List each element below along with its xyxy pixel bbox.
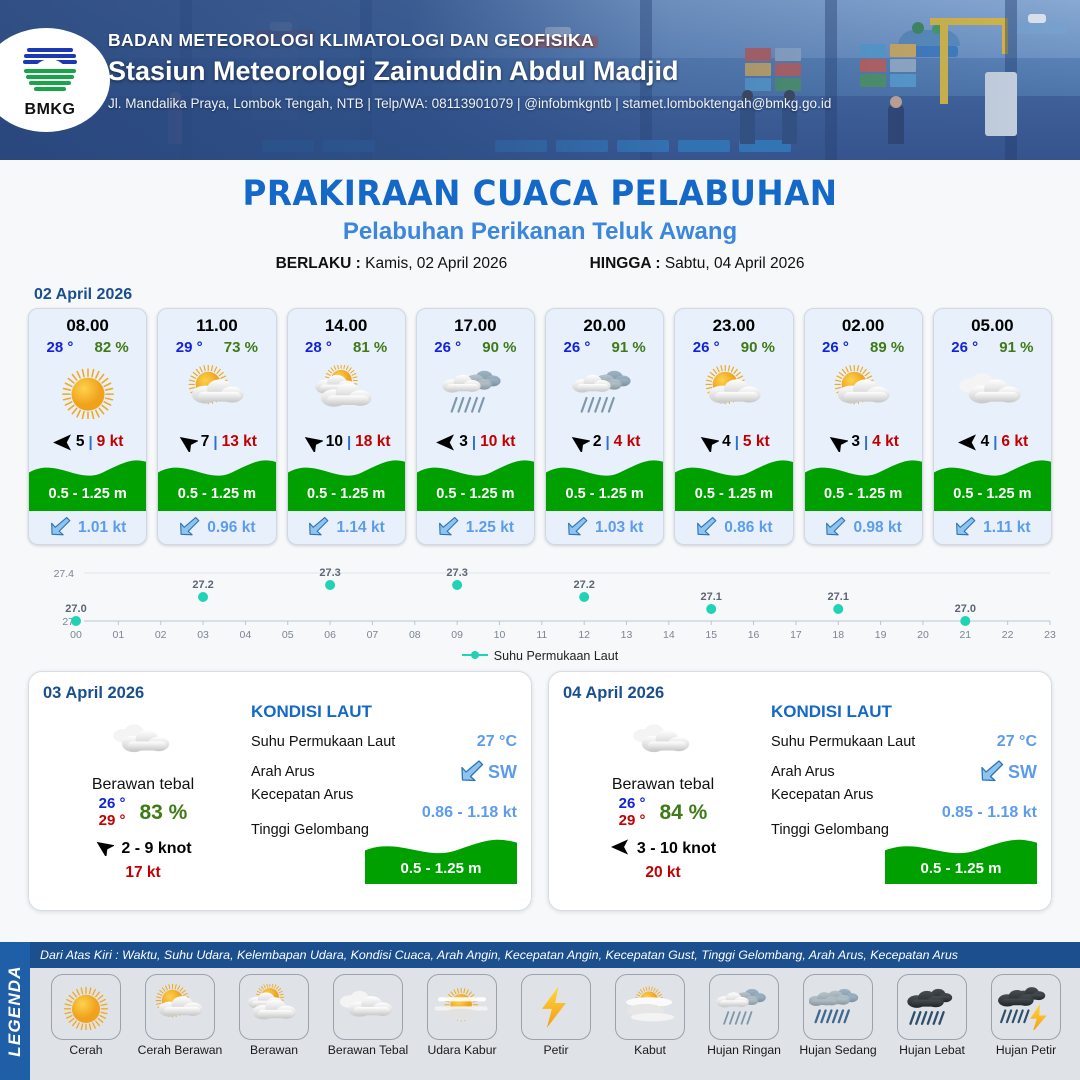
card-current-speed: 1.11 kt [983, 519, 1030, 537]
card-wave-height: 0.5 - 1.25 m [288, 486, 405, 502]
station-name: Stasiun Meteorologi Zainuddin Abdul Madj… [108, 56, 831, 87]
card-wave: 0.5 - 1.25 m [158, 456, 275, 511]
legend-item: Berawan [228, 974, 320, 1057]
card-wind-separator: | [88, 434, 92, 451]
legend-label: Suhu Permukaan Laut [494, 649, 618, 663]
legend-item-label: Cerah [40, 1043, 132, 1057]
card-humidity: 73 % [224, 339, 258, 356]
thunderstorm-icon [991, 974, 1061, 1040]
svg-text:16: 16 [748, 629, 760, 641]
card-wind-separator: | [864, 434, 868, 451]
day-date: 03 April 2026 [43, 684, 517, 703]
svg-text:09: 09 [451, 629, 463, 641]
hourly-card: 05.00 26 ° 91 % [933, 308, 1052, 545]
card-wind-separator: | [213, 434, 217, 451]
sea-conditions: KONDISI LAUT Suhu Permukaan Laut 27 °C A… [251, 702, 517, 884]
card-humidity: 89 % [870, 339, 904, 356]
card-wind: 3 | 4 kt [805, 427, 922, 457]
legend-item-label: Berawan [228, 1043, 320, 1057]
card-temperature: 26 ° [822, 339, 849, 356]
card-current-speed: 1.01 kt [78, 519, 126, 537]
svg-text:13: 13 [621, 629, 633, 641]
arrow-west-icon [435, 433, 455, 451]
card-temperature: 26 ° [951, 339, 978, 356]
hourly-date-label: 02 April 2026 [34, 286, 1080, 304]
sst-chart: 2727.40001020304050607080910111213141516… [18, 557, 1062, 645]
day-temp-min: 26 ° [99, 796, 126, 813]
partly-cloudy-icon [288, 357, 405, 427]
svg-text:03: 03 [197, 629, 209, 641]
svg-text:20: 20 [917, 629, 929, 641]
cloudy-icon [333, 974, 403, 1040]
arrow-southwest-icon [94, 838, 114, 861]
svg-text:01: 01 [113, 629, 125, 641]
sun-icon [29, 357, 146, 427]
card-wind-separator: | [993, 434, 997, 451]
card-temperature: 26 ° [693, 339, 720, 356]
card-temp-hum: 28 ° 81 % [288, 337, 405, 356]
sea-row-value: SW [1008, 762, 1037, 783]
sea-row-wave: Tinggi Gelombang 0.5 - 1.25 m [251, 822, 517, 884]
daily-forecast-row: 03 April 2026 Berawan tebal [0, 663, 1080, 911]
card-gust: 6 kt [1001, 433, 1028, 451]
card-gust: 4 kt [872, 433, 899, 451]
day-gust: 17 kt [43, 864, 243, 882]
day-gust: 20 kt [563, 864, 763, 882]
page-header: BMKG BADAN METEOROLOGI KLIMATOLOGI DAN G… [0, 0, 1080, 160]
svg-text:27.3: 27.3 [319, 567, 340, 579]
card-wind-speed: 10 [326, 433, 343, 451]
chart-legend: Suhu Permukaan Laut [0, 649, 1080, 663]
card-gust: 18 kt [355, 433, 390, 451]
day-temp-max: 29 ° [619, 813, 646, 830]
arrow-southwest-icon [698, 433, 718, 451]
card-temperature: 28 ° [305, 339, 332, 356]
fog-icon [615, 974, 685, 1040]
sea-row-value: SW [488, 762, 517, 783]
card-current-speed: 0.86 kt [724, 519, 772, 537]
light-rain-icon [709, 974, 779, 1040]
svg-text:11: 11 [536, 629, 547, 641]
card-gust: 10 kt [480, 433, 515, 451]
daily-panel: 04 April 2026 Berawan tebal [548, 671, 1052, 911]
arrow-southwest-icon [827, 433, 847, 451]
sst-chart-svg: 2727.40001020304050607080910111213141516… [18, 557, 1062, 643]
svg-text:07: 07 [367, 629, 379, 641]
card-gust: 5 kt [743, 433, 770, 451]
sea-conditions-title: KONDISI LAUT [771, 702, 1037, 722]
card-temp-hum: 26 ° 91 % [934, 337, 1051, 356]
current-arrow-sw-icon [566, 514, 589, 542]
card-time: 05.00 [934, 309, 1051, 337]
sea-row-current-direction: Arah Arus SW [771, 757, 1037, 787]
card-wave: 0.5 - 1.25 m [934, 456, 1051, 511]
day-temp-min: 26 ° [619, 796, 646, 813]
card-humidity: 81 % [353, 339, 387, 356]
current-arrow-sw-icon [824, 514, 847, 542]
hourly-card: 14.00 28 ° 81 % [287, 308, 406, 545]
legend-item: Petir [510, 974, 602, 1057]
arrow-west-icon [52, 433, 72, 451]
card-wind-speed: 3 [459, 433, 468, 451]
arrow-southwest-icon [302, 433, 322, 451]
contact-info: Jl. Mandalika Praya, Lombok Tengah, NTB … [108, 96, 831, 111]
sea-row-current-direction: Arah Arus SW [251, 757, 517, 787]
current-arrow-sw-icon [979, 757, 1005, 787]
sea-conditions-title: KONDISI LAUT [251, 702, 517, 722]
hourly-card: 11.00 29 ° 73 % [157, 308, 276, 545]
card-time: 23.00 [675, 309, 792, 337]
bmkg-logo-text: BMKG [25, 101, 76, 119]
current-arrow-sw-icon [307, 514, 330, 542]
arrow-west-icon [610, 838, 630, 861]
day-humidity: 84 % [659, 801, 707, 825]
card-current: 1.01 kt [29, 511, 146, 544]
card-wind: 4 | 6 kt [934, 427, 1051, 457]
legend-item-label: Hujan Petir [980, 1043, 1072, 1057]
sun-cloud-icon [675, 357, 792, 427]
arrow-west-icon [957, 433, 977, 451]
svg-text:27.4: 27.4 [54, 568, 75, 580]
card-wind-speed: 4 [722, 433, 731, 451]
card-wind: 10 | 18 kt [288, 427, 405, 457]
moderate-rain-icon [803, 974, 873, 1040]
svg-text:17: 17 [790, 629, 802, 641]
legend-item-label: Petir [510, 1043, 602, 1057]
card-current: 1.25 kt [417, 511, 534, 544]
current-arrow-sw-icon [49, 514, 72, 542]
daily-panel: 03 April 2026 Berawan tebal [28, 671, 532, 911]
day-date: 04 April 2026 [563, 684, 1037, 703]
sun-cloud-icon [805, 357, 922, 427]
page-title: PRAKIRAAN CUACA PELABUHAN [38, 174, 1042, 214]
card-gust: 9 kt [97, 433, 124, 451]
legend-item-label: Hujan Lebat [886, 1043, 978, 1057]
sea-row-value-group: SW [979, 757, 1037, 787]
organization-name: BADAN METEOROLOGI KLIMATOLOGI DAN GEOFIS… [108, 30, 831, 51]
svg-text:27.2: 27.2 [573, 579, 594, 591]
card-wind: 7 | 13 kt [158, 427, 275, 457]
card-humidity: 90 % [482, 339, 516, 356]
card-wind: 3 | 10 kt [417, 427, 534, 457]
legend-item: Hujan Sedang [792, 974, 884, 1057]
card-time: 08.00 [29, 309, 146, 337]
sea-row-label: Kecepatan Arus [251, 787, 517, 803]
card-wind-separator: | [605, 434, 609, 451]
card-wave-height: 0.5 - 1.25 m [29, 486, 146, 502]
current-arrow-sw-icon [695, 514, 718, 542]
sea-row-value: 27 °C [477, 733, 517, 751]
card-wave: 0.5 - 1.25 m [805, 456, 922, 511]
svg-text:27.1: 27.1 [701, 591, 722, 603]
sea-row-label: Arah Arus [771, 764, 835, 780]
legend-item-label: Hujan Ringan [698, 1043, 790, 1057]
legend-marker-icon [462, 649, 488, 663]
sea-wave-badge: 0.5 - 1.25 m [885, 836, 1037, 884]
day-wind: 2 - 9 knot [43, 838, 243, 861]
card-current: 0.96 kt [158, 511, 275, 544]
svg-text:27.2: 27.2 [192, 579, 213, 591]
sea-row-wave: Tinggi Gelombang 0.5 - 1.25 m [771, 822, 1037, 884]
sea-row-label: Suhu Permukaan Laut [251, 734, 395, 750]
day-humidity: 83 % [139, 801, 187, 825]
sun-cloud-icon [145, 974, 215, 1040]
card-wave: 0.5 - 1.25 m [417, 456, 534, 511]
cloudy-icon [934, 357, 1051, 427]
sea-row-value: 0.85 - 1.18 kt [771, 804, 1037, 822]
legend-item: Hujan Petir [980, 974, 1072, 1057]
cloudy-icon [43, 712, 243, 770]
card-temperature: 26 ° [564, 339, 591, 356]
hingga-label: HINGGA : [590, 255, 661, 272]
card-wind-separator: | [735, 434, 739, 451]
svg-text:27.3: 27.3 [446, 567, 467, 579]
card-wave: 0.5 - 1.25 m [675, 456, 792, 511]
svg-text:04: 04 [240, 629, 252, 641]
svg-text:06: 06 [324, 629, 336, 641]
card-wind-separator: | [347, 434, 351, 451]
card-current-speed: 1.25 kt [466, 519, 514, 537]
sun-icon [51, 974, 121, 1040]
day-condition: Berawan tebal [43, 776, 243, 794]
legend-item: Kabut [604, 974, 696, 1057]
svg-text:12: 12 [578, 629, 590, 641]
legend-note: Dari Atas Kiri : Waktu, Suhu Udara, Kele… [30, 942, 1080, 968]
sea-row-sst: Suhu Permukaan Laut 27 °C [251, 727, 517, 757]
card-wave-height: 0.5 - 1.25 m [546, 486, 663, 502]
card-humidity: 91 % [612, 339, 646, 356]
card-wave: 0.5 - 1.25 m [29, 456, 146, 511]
card-wind: 5 | 9 kt [29, 427, 146, 457]
hingga-value: Sabtu, 04 April 2026 [665, 255, 805, 272]
card-gust: 13 kt [222, 433, 257, 451]
haze-icon [427, 974, 497, 1040]
legend-item-label: Kabut [604, 1043, 696, 1057]
day-weather-block: Berawan tebal 26 ° 29 ° 83 % 2 - 9 knot … [43, 712, 243, 882]
card-temperature: 28 ° [47, 339, 74, 356]
card-wave-height: 0.5 - 1.25 m [675, 486, 792, 502]
legend-side-label: LEGENDA [0, 942, 30, 1080]
header-text-block: BADAN METEOROLOGI KLIMATOLOGI DAN GEOFIS… [108, 30, 831, 111]
bmkg-logo-icon [19, 42, 81, 100]
card-wave-height: 0.5 - 1.25 m [158, 486, 275, 502]
day-temp-max: 29 ° [99, 813, 126, 830]
sea-row-value: 0.5 - 1.25 m [365, 860, 517, 877]
sea-wave-badge: 0.5 - 1.25 m [365, 836, 517, 884]
legend-item-label: Cerah Berawan [134, 1043, 226, 1057]
hourly-card: 20.00 26 ° 91 % [545, 308, 664, 545]
card-temp-hum: 26 ° 91 % [546, 337, 663, 356]
card-temp-hum: 29 ° 73 % [158, 337, 275, 356]
card-temp-hum: 28 ° 82 % [29, 337, 146, 356]
current-arrow-sw-icon [954, 514, 977, 542]
svg-text:10: 10 [494, 629, 506, 641]
card-time: 17.00 [417, 309, 534, 337]
sea-row-current-speed: Kecepatan Arus 0.85 - 1.18 kt [771, 787, 1037, 822]
legend-section: LEGENDA Dari Atas Kiri : Waktu, Suhu Uda… [0, 942, 1080, 1080]
card-humidity: 91 % [999, 339, 1033, 356]
svg-text:14: 14 [663, 629, 675, 641]
day-weather-block: Berawan tebal 26 ° 29 ° 84 % 3 - 10 knot… [563, 712, 763, 882]
arrow-southwest-icon [569, 433, 589, 451]
card-wave-height: 0.5 - 1.25 m [417, 486, 534, 502]
card-wind-speed: 7 [201, 433, 210, 451]
berlaku-value: Kamis, 02 April 2026 [365, 255, 507, 272]
berlaku-label: BERLAKU : [276, 255, 361, 272]
legend-item: Cerah [40, 974, 132, 1057]
card-wind-speed: 2 [593, 433, 602, 451]
card-wind-speed: 4 [981, 433, 990, 451]
card-current-speed: 0.98 kt [853, 519, 901, 537]
sea-row-value: 0.86 - 1.18 kt [251, 804, 517, 822]
legend-items: Cerah Cerah Berawan [30, 968, 1080, 1080]
heavy-rain-icon [897, 974, 967, 1040]
svg-text:23: 23 [1044, 629, 1056, 641]
svg-text:15: 15 [705, 629, 717, 641]
current-arrow-sw-icon [437, 514, 460, 542]
card-temperature: 29 ° [176, 339, 203, 356]
legend-item-label: Udara Kabur [416, 1043, 508, 1057]
svg-text:27.0: 27.0 [65, 603, 86, 615]
card-temperature: 26 ° [434, 339, 461, 356]
lightning-icon [521, 974, 591, 1040]
current-arrow-sw-icon [178, 514, 201, 542]
card-wind: 2 | 4 kt [546, 427, 663, 457]
sea-row-value: 0.5 - 1.25 m [885, 860, 1037, 877]
day-condition: Berawan tebal [563, 776, 763, 794]
card-current: 0.86 kt [675, 511, 792, 544]
card-current: 1.11 kt [934, 511, 1051, 544]
card-current-speed: 0.96 kt [207, 519, 255, 537]
arrow-southwest-icon [177, 433, 197, 451]
hourly-card: 08.00 28 ° 82 % 5 | 9 [28, 308, 147, 545]
card-current: 1.03 kt [546, 511, 663, 544]
svg-text:27.1: 27.1 [828, 591, 849, 603]
hourly-card: 02.00 26 ° 89 % [804, 308, 923, 545]
hourly-forecast-row: 08.00 28 ° 82 % 5 | 9 [0, 308, 1080, 545]
rain-icon [417, 357, 534, 427]
card-current-speed: 1.14 kt [336, 519, 384, 537]
card-current: 0.98 kt [805, 511, 922, 544]
card-time: 20.00 [546, 309, 663, 337]
card-gust: 4 kt [614, 433, 641, 451]
svg-text:18: 18 [832, 629, 844, 641]
card-wind-speed: 5 [76, 433, 85, 451]
card-current: 1.14 kt [288, 511, 405, 544]
legend-item-label: Hujan Sedang [792, 1043, 884, 1057]
sun-cloud-icon [158, 357, 275, 427]
card-temp-hum: 26 ° 89 % [805, 337, 922, 356]
svg-text:21: 21 [959, 629, 971, 641]
card-current-speed: 1.03 kt [595, 519, 643, 537]
card-time: 11.00 [158, 309, 275, 337]
cloudy-icon [563, 712, 763, 770]
svg-text:05: 05 [282, 629, 294, 641]
hourly-card: 23.00 26 ° 90 % [674, 308, 793, 545]
card-wave: 0.5 - 1.25 m [546, 456, 663, 511]
card-humidity: 82 % [95, 339, 129, 356]
legend-item: Cerah Berawan [134, 974, 226, 1057]
card-temp-hum: 26 ° 90 % [675, 337, 792, 356]
day-wind-speed: 2 - 9 knot [121, 840, 191, 858]
card-wave: 0.5 - 1.25 m [288, 456, 405, 511]
title-block: PRAKIRAAN CUACA PELABUHAN Pelabuhan Peri… [0, 160, 1080, 273]
legend-item: Udara Kabur [416, 974, 508, 1057]
card-wave-height: 0.5 - 1.25 m [934, 486, 1051, 502]
card-time: 14.00 [288, 309, 405, 337]
svg-text:02: 02 [155, 629, 167, 641]
hourly-card: 17.00 26 ° 90 % [416, 308, 535, 545]
page-subtitle: Pelabuhan Perikanan Teluk Awang [0, 218, 1080, 246]
svg-text:08: 08 [409, 629, 421, 641]
legend-item: Hujan Lebat [886, 974, 978, 1057]
svg-text:19: 19 [875, 629, 887, 641]
sea-row-label: Suhu Permukaan Laut [771, 734, 915, 750]
day-wind-speed: 3 - 10 knot [637, 840, 716, 858]
sea-conditions: KONDISI LAUT Suhu Permukaan Laut 27 °C A… [771, 702, 1037, 884]
card-wind-speed: 3 [851, 433, 860, 451]
validity-range: BERLAKU : Kamis, 02 April 2026 HINGGA : … [0, 255, 1080, 273]
sea-row-label: Kecepatan Arus [771, 787, 1037, 803]
partly-cloudy-icon [239, 974, 309, 1040]
card-humidity: 90 % [741, 339, 775, 356]
card-wind-separator: | [472, 434, 476, 451]
sea-row-label: Arah Arus [251, 764, 315, 780]
current-arrow-sw-icon [459, 757, 485, 787]
card-time: 02.00 [805, 309, 922, 337]
sea-row-value: 27 °C [997, 733, 1037, 751]
svg-text:22: 22 [1002, 629, 1014, 641]
sea-row-sst: Suhu Permukaan Laut 27 °C [771, 727, 1037, 757]
day-wind: 3 - 10 knot [563, 838, 763, 861]
card-temp-hum: 26 ° 90 % [417, 337, 534, 356]
sea-row-current-speed: Kecepatan Arus 0.86 - 1.18 kt [251, 787, 517, 822]
legend-item: Berawan Tebal [322, 974, 414, 1057]
svg-text:27.0: 27.0 [955, 603, 976, 615]
card-wind: 4 | 5 kt [675, 427, 792, 457]
legend-item: Hujan Ringan [698, 974, 790, 1057]
day-temps: 26 ° 29 ° 84 % [563, 796, 763, 830]
card-wave-height: 0.5 - 1.25 m [805, 486, 922, 502]
rain-icon [546, 357, 663, 427]
day-temps: 26 ° 29 ° 83 % [43, 796, 243, 830]
sea-row-value-group: SW [459, 757, 517, 787]
legend-item-label: Berawan Tebal [322, 1043, 414, 1057]
svg-text:00: 00 [70, 629, 82, 641]
